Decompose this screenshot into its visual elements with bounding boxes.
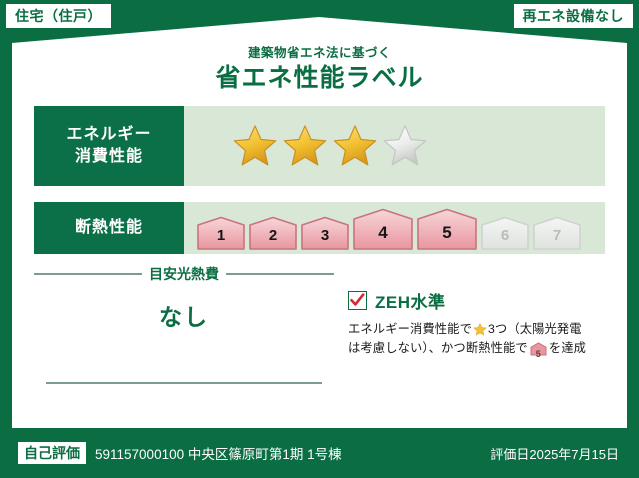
heading-rule-right: [226, 273, 334, 275]
utility-cost-value: なし: [34, 298, 334, 332]
star-filled-icon: [232, 124, 278, 168]
evaluation-date: 評価日2025年7月15日: [490, 444, 619, 463]
insulation-grade-value: 4: [352, 223, 414, 243]
inline-house-icon: 5: [530, 342, 547, 362]
zeh-title-text: ZEH水準: [375, 288, 446, 313]
insulation-grade-2: 2: [248, 206, 298, 250]
insulation-performance-row: 断熱性能 1234567: [34, 202, 605, 254]
insulation-grade-5: 5: [416, 206, 478, 250]
energy-label-line-1: エネルギー: [66, 124, 151, 146]
zeh-desc-part-2: 3つ（太陽光発電: [488, 322, 582, 336]
energy-performance-row: エネルギー 消費性能: [34, 106, 605, 186]
insulation-grade-1: 1: [196, 206, 246, 250]
insulation-grade-3: 3: [300, 206, 350, 250]
insulation-performance-label-box: 断熱性能: [34, 202, 184, 254]
label-id-and-address: 591157000100 中央区篠原町第1期 1号棟: [95, 443, 342, 463]
renewable-energy-badge: 再エネ設備なし: [514, 4, 634, 28]
zeh-description: エネルギー消費性能で3つ（太陽光発電 は考慮しない）、かつ断熱性能で5を達成: [348, 320, 606, 362]
insulation-grade-value: 1: [196, 227, 246, 244]
insulation-grade-4: 4: [352, 206, 414, 250]
label-body-card: エネルギー 消費性能 断熱性能 1234567 目安光熱費 なし: [22, 98, 617, 428]
star-empty-icon: [382, 124, 428, 168]
utility-cost-bottom-rule: [46, 382, 322, 384]
inline-house-grade: 5: [530, 348, 547, 362]
star-filled-icon: [282, 124, 328, 168]
check-icon: [350, 293, 365, 308]
heading-rule-left: [34, 273, 142, 275]
evaluation-type-badge: 自己評価: [18, 442, 86, 465]
label-footer: 自己評価 591157000100 中央区篠原町第1期 1号棟 評価日2025年…: [0, 428, 639, 478]
utility-cost-heading: 目安光熱費: [34, 264, 334, 284]
label-title: 省エネ性能ラベル: [0, 58, 639, 94]
insulation-grade-value: 3: [300, 227, 350, 244]
insulation-grade-value: 5: [416, 223, 478, 243]
star-rating: [184, 106, 605, 186]
insulation-grade-value: 7: [532, 227, 582, 244]
insulation-grade-6: 6: [480, 206, 530, 250]
energy-performance-label-box: エネルギー 消費性能: [34, 106, 184, 186]
energy-label-line-2: 消費性能: [75, 146, 143, 168]
zeh-desc-part-3: は考慮しない）、かつ断熱性能で: [348, 341, 528, 355]
insulation-grade-scale: 1234567: [184, 202, 605, 254]
zeh-desc-part-1: エネルギー消費性能で: [348, 322, 472, 336]
insulation-grade-value: 2: [248, 227, 298, 244]
zeh-heading: ZEH水準: [348, 288, 606, 313]
panel-divider: [338, 264, 339, 414]
zeh-desc-part-4: を達成: [549, 341, 586, 355]
inline-star-icon: [473, 323, 487, 336]
insulation-grade-7: 7: [532, 206, 582, 250]
utility-cost-heading-text: 目安光熱費: [149, 264, 219, 284]
building-type-badge: 住宅（住戸）: [6, 4, 111, 28]
insulation-label-text: 断熱性能: [75, 217, 143, 239]
insulation-grade-value: 6: [480, 227, 530, 244]
energy-performance-label: 住宅（住戸） 再エネ設備なし 建築物省エネ法に基づく 省エネ性能ラベル エネルギ…: [0, 0, 639, 478]
zeh-section: ZEH水準 エネルギー消費性能で3つ（太陽光発電 は考慮しない）、かつ断熱性能で…: [348, 288, 606, 362]
zeh-checkbox[interactable]: [348, 291, 367, 310]
star-filled-icon: [332, 124, 378, 168]
